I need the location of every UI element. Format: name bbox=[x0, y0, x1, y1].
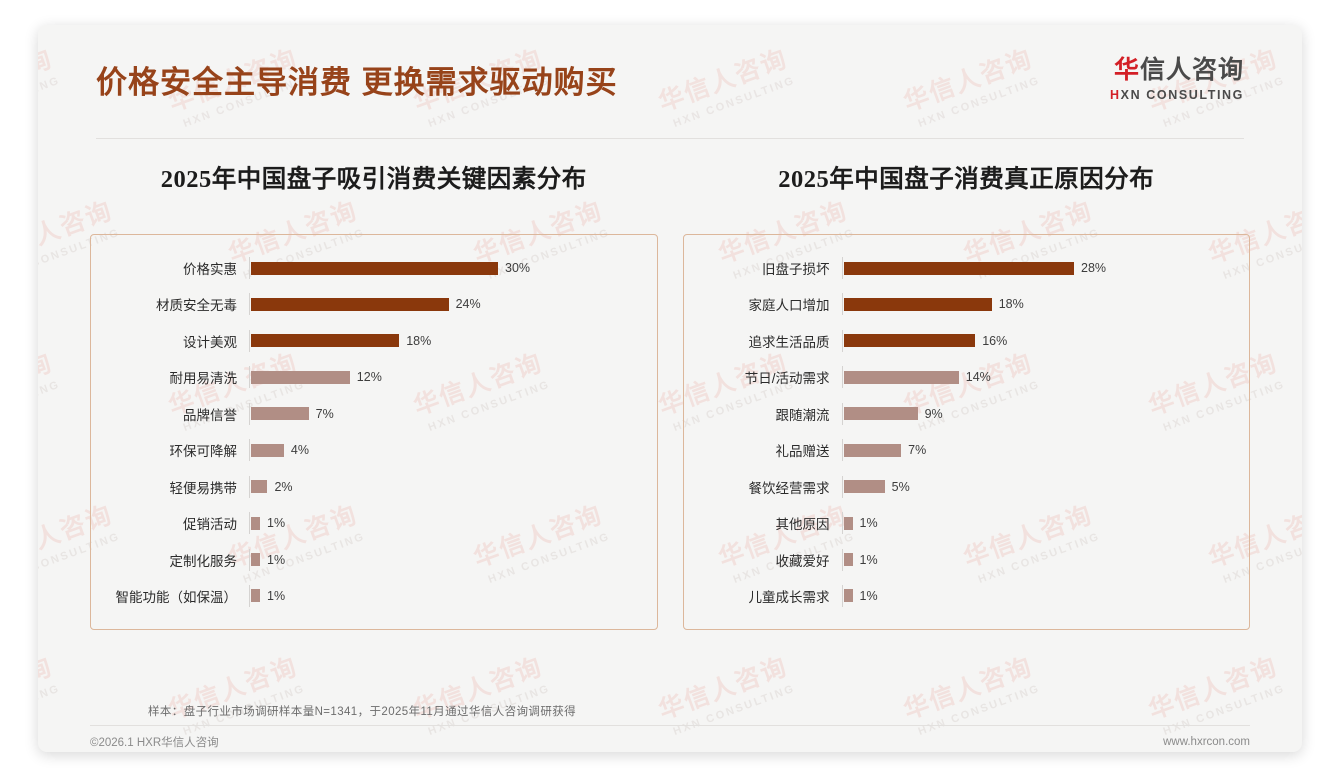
bar bbox=[844, 334, 976, 347]
sample-footnote: 样本：盘子行业市场调研样本量N=1341，于2025年11月通过华信人咨询调研获… bbox=[148, 703, 576, 719]
bar-value-label: 1% bbox=[860, 553, 878, 567]
bar-row: 其他原因1% bbox=[684, 512, 1234, 534]
bar-category-label: 智能功能（如保温） bbox=[91, 586, 249, 606]
logo-english-rest: XN CONSULTING bbox=[1121, 88, 1244, 102]
logo-chinese-rest: 信人咨询 bbox=[1140, 56, 1244, 84]
bar bbox=[251, 371, 350, 384]
slide-header: 价格安全主导消费 更换需求驱动购买 华信人咨询 HXN CONSULTING bbox=[38, 25, 1302, 115]
bar-value-label: 2% bbox=[274, 480, 292, 494]
bar bbox=[844, 517, 853, 530]
bar-track: 16% bbox=[842, 330, 1234, 352]
bar-category-label: 礼品赠送 bbox=[684, 440, 842, 460]
bar-category-label: 家庭人口增加 bbox=[684, 294, 842, 314]
bar bbox=[844, 553, 853, 566]
bar-category-label: 旧盘子损坏 bbox=[684, 258, 842, 278]
bar-value-label: 1% bbox=[267, 553, 285, 567]
bar-value-label: 14% bbox=[966, 370, 991, 384]
bar-row: 追求生活品质16% bbox=[684, 330, 1234, 352]
bar bbox=[844, 262, 1075, 275]
header-divider bbox=[96, 138, 1244, 139]
bar-category-label: 耐用易清洗 bbox=[91, 367, 249, 387]
bar bbox=[251, 517, 260, 530]
bar-track: 12% bbox=[249, 366, 641, 388]
bar-track: 24% bbox=[249, 293, 641, 315]
bar-row: 定制化服务1% bbox=[91, 549, 641, 571]
bar bbox=[251, 553, 260, 566]
bar bbox=[844, 298, 992, 311]
bar-row: 跟随潮流9% bbox=[684, 403, 1234, 425]
bar-track: 1% bbox=[842, 512, 1234, 534]
bar-category-label: 轻便易携带 bbox=[91, 477, 249, 497]
slide-footer: ©2026.1 HXR华信人咨询 www.hxrcon.com bbox=[90, 731, 1250, 752]
bar bbox=[844, 589, 853, 602]
bar-category-label: 追求生活品质 bbox=[684, 331, 842, 351]
bar-category-label: 其他原因 bbox=[684, 513, 842, 533]
bar-value-label: 18% bbox=[406, 334, 431, 348]
bar bbox=[844, 480, 885, 493]
chart-column-right: 2025年中国盘子消费真正原因分布 旧盘子损坏28%家庭人口增加18%追求生活品… bbox=[683, 160, 1251, 630]
bar-row: 设计美观18% bbox=[91, 330, 641, 352]
bar-value-label: 18% bbox=[999, 297, 1024, 311]
page-title: 价格安全主导消费 更换需求驱动购买 bbox=[96, 57, 618, 102]
bar-row: 餐饮经营需求5% bbox=[684, 476, 1234, 498]
bar-category-label: 促销活动 bbox=[91, 513, 249, 533]
slide-card: 华信人咨询HXN CONSULTING华信人咨询HXN CONSULTING华信… bbox=[38, 25, 1302, 752]
bar-category-label: 跟随潮流 bbox=[684, 404, 842, 424]
footer-website: www.hxrcon.com bbox=[1163, 736, 1250, 748]
bar bbox=[251, 589, 260, 602]
bar-value-label: 4% bbox=[291, 443, 309, 457]
footer-divider bbox=[90, 725, 1250, 726]
bar-row: 节日/活动需求14% bbox=[684, 366, 1234, 388]
bar-track: 1% bbox=[249, 585, 641, 607]
bar bbox=[844, 371, 959, 384]
bar-row: 耐用易清洗12% bbox=[91, 366, 641, 388]
bar-row: 礼品赠送7% bbox=[684, 439, 1234, 461]
bar-value-label: 1% bbox=[267, 589, 285, 603]
bar-category-label: 材质安全无毒 bbox=[91, 294, 249, 314]
bar-category-label: 儿童成长需求 bbox=[684, 586, 842, 606]
bar-track: 5% bbox=[842, 476, 1234, 498]
bar-value-label: 16% bbox=[982, 334, 1007, 348]
bar-value-label: 1% bbox=[860, 516, 878, 530]
bar-row: 品牌信誉7% bbox=[91, 403, 641, 425]
bar-row: 促销活动1% bbox=[91, 512, 641, 534]
bar bbox=[251, 298, 449, 311]
footer-copyright: ©2026.1 HXR华信人咨询 bbox=[90, 734, 219, 750]
bar-value-label: 24% bbox=[456, 297, 481, 311]
bar-value-label: 5% bbox=[892, 480, 910, 494]
bar-category-label: 价格实惠 bbox=[91, 258, 249, 278]
bar-value-label: 12% bbox=[357, 370, 382, 384]
bar-track: 18% bbox=[249, 330, 641, 352]
bar bbox=[251, 334, 399, 347]
bar-rows-right: 旧盘子损坏28%家庭人口增加18%追求生活品质16%节日/活动需求14%跟随潮流… bbox=[684, 257, 1234, 607]
bar bbox=[251, 262, 498, 275]
bar-row: 收藏爱好1% bbox=[684, 549, 1234, 571]
bar-category-label: 定制化服务 bbox=[91, 550, 249, 570]
bar-value-label: 28% bbox=[1081, 261, 1106, 275]
bar bbox=[251, 407, 309, 420]
bar bbox=[844, 444, 902, 457]
bar-row: 轻便易携带2% bbox=[91, 476, 641, 498]
bar-track: 18% bbox=[842, 293, 1234, 315]
bar-track: 28% bbox=[842, 257, 1234, 279]
logo-english: HXN CONSULTING bbox=[1110, 89, 1244, 102]
watermark: 华信人咨询HXN CONSULTING bbox=[898, 647, 1042, 740]
bar-track: 7% bbox=[842, 439, 1234, 461]
watermark: 华信人咨询HXN CONSULTING bbox=[38, 647, 62, 740]
bar-row: 儿童成长需求1% bbox=[684, 585, 1234, 607]
bar-track: 1% bbox=[842, 585, 1234, 607]
logo-chinese-highlight: 华 bbox=[1114, 56, 1140, 84]
bar-track: 4% bbox=[249, 439, 641, 461]
chart-panel-left: 价格实惠30%材质安全无毒24%设计美观18%耐用易清洗12%品牌信誉7%环保可… bbox=[90, 234, 658, 630]
chart-title-right: 2025年中国盘子消费真正原因分布 bbox=[683, 160, 1251, 195]
bar-track: 1% bbox=[842, 549, 1234, 571]
bar-track: 9% bbox=[842, 403, 1234, 425]
watermark: 华信人咨询HXN CONSULTING bbox=[1143, 647, 1287, 740]
logo-english-highlight: H bbox=[1110, 88, 1121, 102]
bar bbox=[251, 480, 267, 493]
bar-row: 家庭人口增加18% bbox=[684, 293, 1234, 315]
chart-column-left: 2025年中国盘子吸引消费关键因素分布 价格实惠30%材质安全无毒24%设计美观… bbox=[90, 160, 658, 630]
bar-row: 旧盘子损坏28% bbox=[684, 257, 1234, 279]
bar-category-label: 品牌信誉 bbox=[91, 404, 249, 424]
bar-value-label: 9% bbox=[925, 407, 943, 421]
bar-track: 14% bbox=[842, 366, 1234, 388]
bar-category-label: 环保可降解 bbox=[91, 440, 249, 460]
bar-track: 1% bbox=[249, 512, 641, 534]
bar bbox=[251, 444, 284, 457]
watermark: 华信人咨询HXN CONSULTING bbox=[408, 647, 552, 740]
bar-category-label: 收藏爱好 bbox=[684, 550, 842, 570]
bar-track: 30% bbox=[249, 257, 641, 279]
watermark: 华信人咨询HXN CONSULTING bbox=[653, 647, 797, 740]
watermark: 华信人咨询HXN CONSULTING bbox=[163, 647, 307, 740]
bar-rows-left: 价格实惠30%材质安全无毒24%设计美观18%耐用易清洗12%品牌信誉7%环保可… bbox=[91, 257, 641, 607]
bar-row: 智能功能（如保温）1% bbox=[91, 585, 641, 607]
bar-track: 2% bbox=[249, 476, 641, 498]
bar-value-label: 30% bbox=[505, 261, 530, 275]
bar-value-label: 7% bbox=[908, 443, 926, 457]
bar-track: 7% bbox=[249, 403, 641, 425]
brand-logo: 华信人咨询 HXN CONSULTING bbox=[1110, 58, 1244, 102]
bar-value-label: 7% bbox=[316, 407, 334, 421]
bar-track: 1% bbox=[249, 549, 641, 571]
bar-row: 环保可降解4% bbox=[91, 439, 641, 461]
bar-row: 价格实惠30% bbox=[91, 257, 641, 279]
chart-title-left: 2025年中国盘子吸引消费关键因素分布 bbox=[90, 160, 658, 195]
bar-category-label: 餐饮经营需求 bbox=[684, 477, 842, 497]
chart-panel-right: 旧盘子损坏28%家庭人口增加18%追求生活品质16%节日/活动需求14%跟随潮流… bbox=[683, 234, 1251, 630]
logo-chinese: 华信人咨询 bbox=[1110, 58, 1244, 83]
bar-value-label: 1% bbox=[267, 516, 285, 530]
charts-area: 2025年中国盘子吸引消费关键因素分布 价格实惠30%材质安全无毒24%设计美观… bbox=[38, 160, 1302, 630]
bar-category-label: 设计美观 bbox=[91, 331, 249, 351]
bar-row: 材质安全无毒24% bbox=[91, 293, 641, 315]
bar bbox=[844, 407, 918, 420]
bar-value-label: 1% bbox=[860, 589, 878, 603]
bar-category-label: 节日/活动需求 bbox=[684, 367, 842, 387]
